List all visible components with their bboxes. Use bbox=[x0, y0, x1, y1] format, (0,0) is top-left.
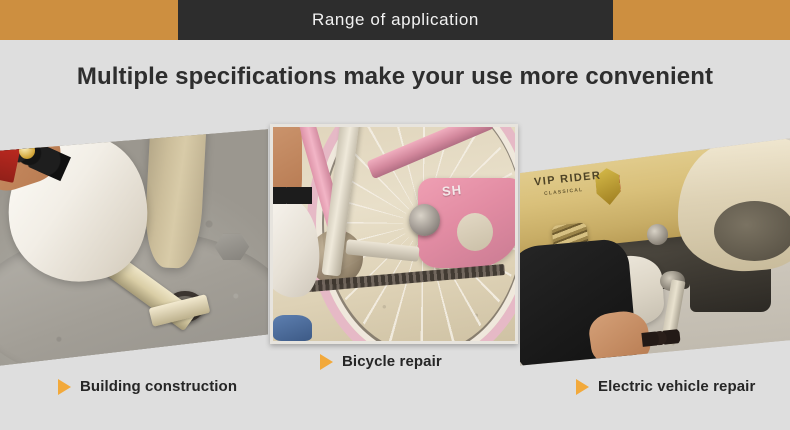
caption-label: Building construction bbox=[80, 378, 237, 395]
photo-building-construction bbox=[0, 128, 268, 368]
caption-electric-vehicle-repair: Electric vehicle repair bbox=[576, 378, 755, 395]
photo-electric-vehicle-repair: VIP RIDER CLASSICAL bbox=[520, 136, 790, 368]
header-title-panel: Range of application bbox=[178, 0, 613, 40]
wheel-well bbox=[714, 201, 790, 261]
page-subtitle: Multiple specifications make your use mo… bbox=[0, 63, 790, 91]
mechanic-shoe bbox=[273, 315, 312, 341]
caption-building-construction: Building construction bbox=[58, 378, 237, 395]
scene-building bbox=[0, 128, 268, 368]
beaded-wristband bbox=[270, 187, 312, 204]
scene-evehicle: VIP RIDER CLASSICAL bbox=[520, 136, 790, 368]
play-triangle-icon bbox=[320, 354, 333, 370]
bottom-bracket bbox=[409, 204, 440, 236]
caption-bicycle-repair: Bicycle repair bbox=[320, 353, 442, 370]
caption-label: Bicycle repair bbox=[342, 353, 442, 370]
caption-label: Electric vehicle repair bbox=[598, 378, 755, 395]
promo-page: Range of application Multiple specificat… bbox=[0, 0, 790, 430]
gold-bead bbox=[19, 142, 35, 159]
header-title: Range of application bbox=[312, 10, 479, 30]
header-band: Range of application bbox=[0, 0, 790, 40]
bicycle-brand-text: SH bbox=[442, 182, 464, 199]
photo-bicycle-repair: SH bbox=[270, 124, 518, 344]
play-triangle-icon bbox=[576, 379, 589, 395]
scene-bicycle: SH bbox=[273, 127, 515, 341]
chain-guard-cutout bbox=[457, 213, 493, 252]
play-triangle-icon bbox=[58, 379, 71, 395]
